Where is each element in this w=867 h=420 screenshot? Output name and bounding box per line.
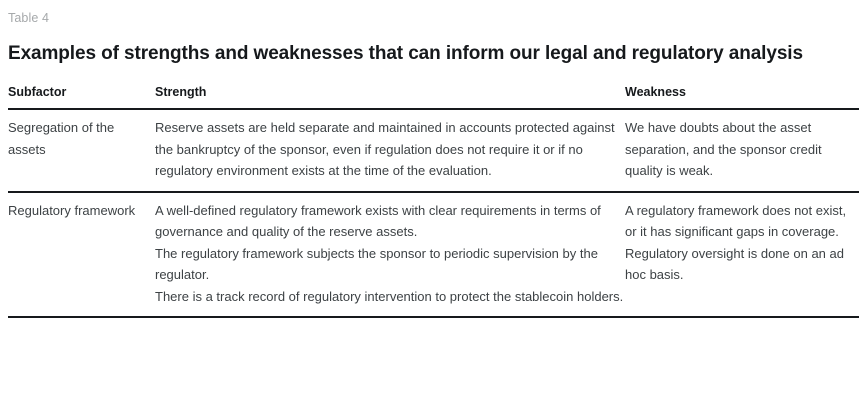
weakness-line: We have doubts about the asset separatio… <box>625 117 859 182</box>
table-body: Segregation of the assets Reserve assets… <box>8 109 859 317</box>
strength-line: The regulatory framework subjects the sp… <box>155 243 625 286</box>
column-header-weakness: Weakness <box>625 84 859 109</box>
cell-subfactor: Regulatory framework <box>8 192 155 318</box>
table-label: Table 4 <box>8 0 859 26</box>
cell-weakness: A regulatory framework does not exist, o… <box>625 192 859 318</box>
strengths-weaknesses-table: Subfactor Strength Weakness Segregation … <box>8 84 859 318</box>
weakness-line: Regulatory oversight is done on an ad ho… <box>625 243 859 286</box>
cell-weakness: We have doubts about the asset separatio… <box>625 109 859 192</box>
cell-strength: A well-defined regulatory framework exis… <box>155 192 625 318</box>
cell-strength: Reserve assets are held separate and mai… <box>155 109 625 192</box>
table-title: Examples of strengths and weaknesses tha… <box>8 40 828 67</box>
table-row: Segregation of the assets Reserve assets… <box>8 109 859 192</box>
document-page: Table 4 Examples of strengths and weakne… <box>0 0 867 420</box>
strength-line: Reserve assets are held separate and mai… <box>155 117 625 182</box>
table-header: Subfactor Strength Weakness <box>8 84 859 109</box>
strength-line: A well-defined regulatory framework exis… <box>155 200 625 243</box>
strength-line: There is a track record of regulatory in… <box>155 286 625 308</box>
cell-subfactor: Segregation of the assets <box>8 109 155 192</box>
column-header-strength: Strength <box>155 84 625 109</box>
column-header-subfactor: Subfactor <box>8 84 155 109</box>
table-row: Regulatory framework A well-defined regu… <box>8 192 859 318</box>
table-header-row: Subfactor Strength Weakness <box>8 84 859 109</box>
weakness-line: A regulatory framework does not exist, o… <box>625 200 859 243</box>
